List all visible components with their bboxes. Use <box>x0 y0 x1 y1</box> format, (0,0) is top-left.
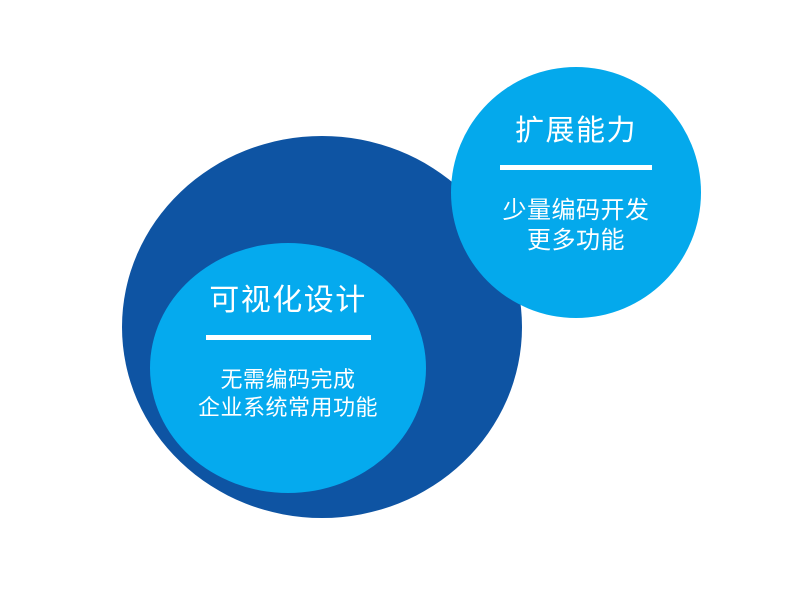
bubble-visual-design[interactable]: 可视化设计 无需编码完成 企业系统常用功能 <box>150 243 426 493</box>
bubble-scalability-title: 扩展能力 <box>515 115 637 148</box>
bubble-visual-design-divider <box>206 335 371 340</box>
bubble-visual-design-subtitle: 无需编码完成 企业系统常用功能 <box>198 366 378 422</box>
bubble-visual-design-title: 可视化设计 <box>209 284 367 319</box>
diagram-canvas: 可视化设计 无需编码完成 企业系统常用功能 扩展能力 少量编码开发 更多功能 <box>0 0 800 600</box>
bubble-scalability-divider <box>500 165 652 170</box>
bubble-scalability-subtitle: 少量编码开发 更多功能 <box>503 196 650 255</box>
bubble-scalability[interactable]: 扩展能力 少量编码开发 更多功能 <box>451 67 701 318</box>
